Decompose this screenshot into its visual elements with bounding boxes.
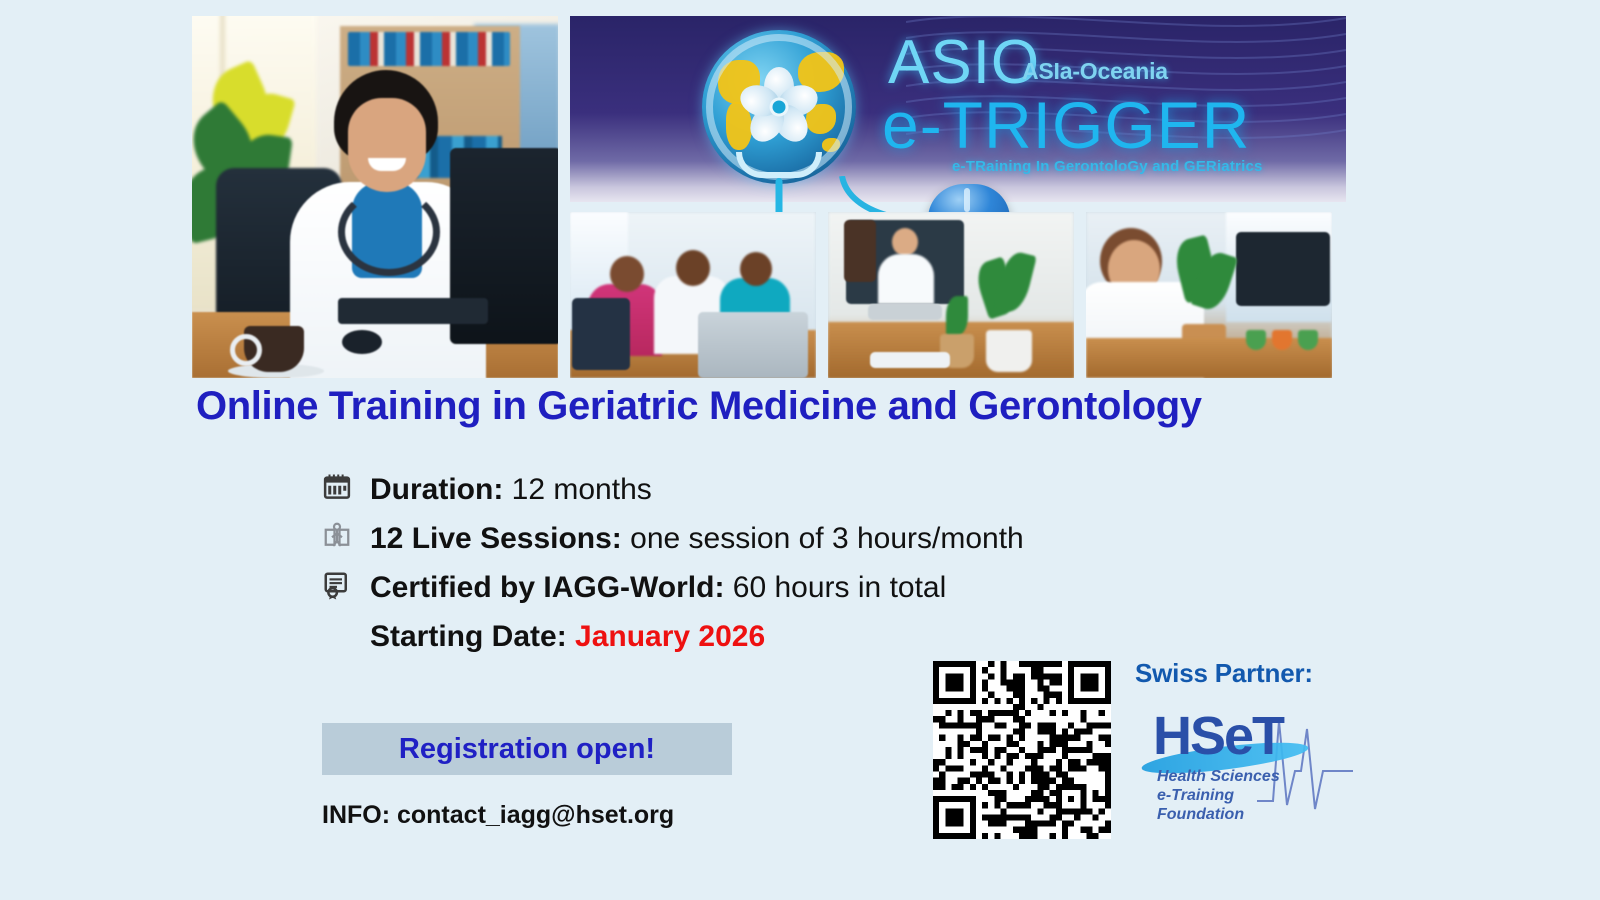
asio-etrigger-banner: ASIO ASIa-Oceania e-TRIGGER e-TRaining I…: [570, 16, 1346, 202]
qr-code[interactable]: [933, 661, 1111, 839]
detail-value-starting-date: January 2026: [575, 620, 765, 653]
hset-logo-subtitle: Health Sciences e-Training Foundation: [1157, 767, 1280, 824]
hset-logo-text: HSeT: [1153, 705, 1283, 767]
details-list: Duration: 12 months 12 Live Sessions: on…: [322, 468, 1024, 664]
contact-info: INFO: contact_iagg@hset.org: [322, 801, 674, 830]
banner-tagline: e-TRaining In GerontoloGy and GERiatrics: [952, 158, 1263, 175]
page-title: Online Training in Geriatric Medicine an…: [196, 384, 1376, 429]
hset-logo: HSeT Health Sciences e-Training Foundati…: [1135, 705, 1347, 825]
detail-row-duration: Duration: 12 months: [322, 468, 1024, 517]
detail-row-certification: Certified by IAGG-World: 60 hours in tot…: [322, 566, 1024, 615]
detail-label-starting-date: Starting Date:: [370, 620, 567, 653]
calendar-icon: [322, 468, 370, 502]
thumb-photo-telemedicine: [828, 212, 1074, 378]
detail-text-sessions: 12 Live Sessions: one session of 3 hours…: [370, 517, 1024, 561]
iagg-globe-logo: [702, 30, 856, 184]
lecture-icon: [322, 517, 370, 551]
detail-value-duration: 12 months: [512, 473, 652, 506]
detail-value-sessions: one session of 3 hours/month: [630, 522, 1024, 555]
detail-text-starting-date: Starting Date: January 2026: [370, 615, 765, 659]
detail-text-certification: Certified by IAGG-World: 60 hours in tot…: [370, 566, 946, 610]
hero-photo: [192, 16, 558, 378]
detail-value-certification: 60 hours in total: [733, 571, 946, 604]
hset-sub-line1: Health Sciences: [1157, 767, 1280, 786]
detail-text-duration: Duration: 12 months: [370, 468, 652, 512]
thumb-photo-male-doctor: [1086, 212, 1332, 378]
registration-button[interactable]: Registration open!: [322, 723, 732, 775]
hset-sub-line2: e-Training: [1157, 786, 1280, 805]
swiss-partner-label: Swiss Partner:: [1135, 658, 1355, 689]
detail-label-sessions: 12 Live Sessions:: [370, 522, 622, 555]
certificate-icon: [322, 566, 370, 600]
detail-label-duration: Duration:: [370, 473, 503, 506]
swiss-partner-block: Swiss Partner: HSeT Health Sciences e-Tr…: [1135, 658, 1355, 825]
hset-sub-line3: Foundation: [1157, 805, 1280, 824]
registration-button-label: Registration open!: [399, 733, 655, 766]
thumb-photo-group: [570, 212, 816, 378]
banner-brand-main: ASIO: [888, 32, 1040, 94]
poster-root: ASIO ASIa-Oceania e-TRIGGER e-TRaining I…: [0, 0, 1600, 900]
banner-brand-sub: ASIa-Oceania: [1022, 58, 1168, 85]
qr-code-image: [933, 661, 1111, 839]
detail-row-sessions: 12 Live Sessions: one session of 3 hours…: [322, 517, 1024, 566]
detail-label-certification: Certified by IAGG-World:: [370, 571, 724, 604]
banner-brand-secondary: e-TRIGGER: [882, 92, 1250, 158]
photo-strip: [570, 212, 1332, 378]
detail-row-starting-date: Starting Date: January 2026: [322, 615, 1024, 664]
